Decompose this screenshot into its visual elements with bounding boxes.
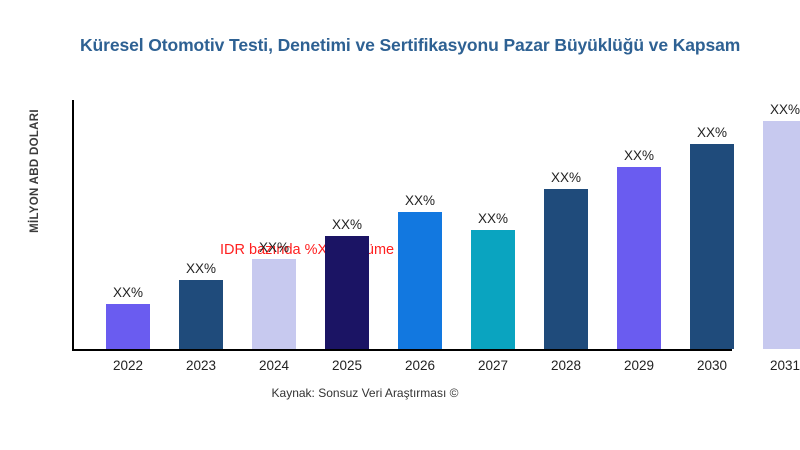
x-tick-2023: 2023 [166, 358, 236, 373]
bar-value-label: XX% [312, 217, 382, 232]
bar-2028 [544, 189, 588, 349]
bar-value-label: XX% [166, 261, 236, 276]
bar-value-label: XX% [750, 102, 800, 117]
bar-group: XX% [325, 100, 369, 350]
bar-group: XX% [252, 100, 296, 350]
x-tick-2029: 2029 [604, 358, 674, 373]
bar-group: XX% [398, 100, 442, 350]
x-tick-2025: 2025 [312, 358, 382, 373]
bar-2026 [398, 212, 442, 349]
chart-title: Küresel Otomotiv Testi, Denetimi ve Sert… [80, 35, 800, 56]
bar-2030 [690, 144, 734, 349]
bar-2025 [325, 236, 369, 349]
bar-value-label: XX% [604, 148, 674, 163]
bar-2024 [252, 259, 296, 349]
chart-figure: Küresel Otomotiv Testi, Denetimi ve Sert… [0, 0, 800, 450]
x-tick-2024: 2024 [239, 358, 309, 373]
bar-group: XX% [471, 100, 515, 350]
bar-group: XX% [763, 100, 800, 350]
x-tick-2027: 2027 [458, 358, 528, 373]
x-tick-2028: 2028 [531, 358, 601, 373]
bar-group: XX% [617, 100, 661, 350]
bar-2027 [471, 230, 515, 349]
bar-value-label: XX% [677, 125, 747, 140]
source-caption: Kaynak: Sonsuz Veri Araştırması © [0, 386, 730, 400]
bar-group: XX% [690, 100, 734, 350]
bar-value-label: XX% [458, 211, 528, 226]
bar-group: XX% [106, 100, 150, 350]
plot-area: IDR bazında %XX Büyüme Oranı XX%XX%XX%XX… [72, 100, 800, 350]
bar-group: XX% [544, 100, 588, 350]
bar-2031 [763, 121, 800, 349]
x-tick-2022: 2022 [93, 358, 163, 373]
bar-group: XX% [179, 100, 223, 350]
bar-value-label: XX% [93, 285, 163, 300]
bar-2022 [106, 304, 150, 349]
x-tick-2026: 2026 [385, 358, 455, 373]
bar-2023 [179, 280, 223, 349]
y-axis-line [72, 100, 74, 350]
x-tick-2031: 2031 [750, 358, 800, 373]
x-tick-2030: 2030 [677, 358, 747, 373]
bar-2029 [617, 167, 661, 349]
bar-value-label: XX% [531, 170, 601, 185]
bar-value-label: XX% [385, 193, 455, 208]
bar-value-label: XX% [239, 240, 309, 255]
y-axis-label: MİLYON ABD DOLARI [29, 51, 41, 291]
